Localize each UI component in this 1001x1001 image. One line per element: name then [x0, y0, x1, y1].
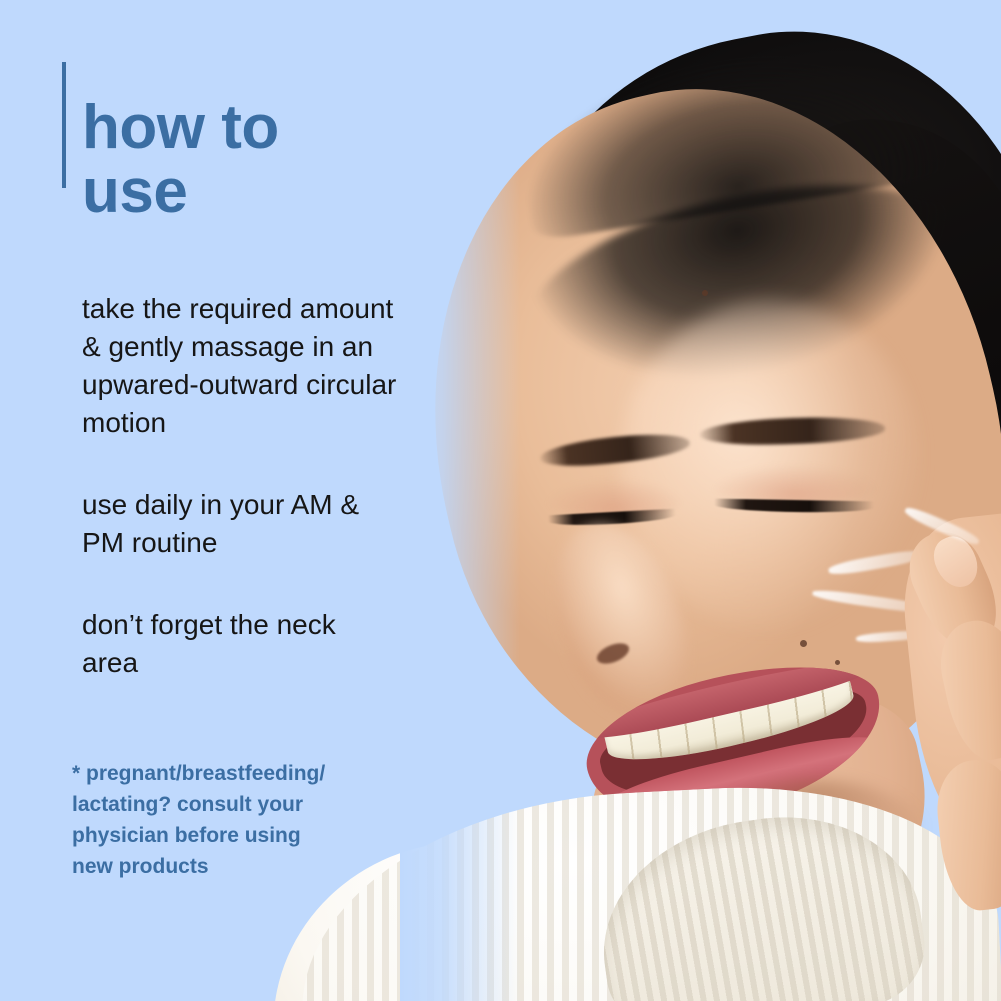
beauty-mark	[835, 660, 840, 665]
page-title: how to use	[82, 96, 422, 224]
beauty-mark	[800, 640, 807, 647]
cheek-highlight	[620, 300, 920, 630]
heading-accent-bar	[62, 62, 66, 188]
product-gel-smear	[812, 588, 932, 616]
eyebrow-right-icon	[700, 415, 886, 447]
nose-icon	[532, 506, 708, 733]
jawline	[578, 668, 953, 981]
fingernail-icon	[927, 530, 986, 594]
hair-wisps-icon	[511, 28, 949, 242]
instructions-column: how to use take the required amount & ge…	[0, 0, 470, 1001]
eyelid-left	[544, 478, 684, 518]
finger-icon	[897, 520, 1001, 657]
how-to-use-card: how to use take the required amount & ge…	[0, 0, 1001, 1001]
neck-shadow	[700, 780, 930, 910]
lower-lip	[598, 725, 890, 840]
product-gel-smear	[828, 548, 925, 577]
hair-side-icon	[672, 104, 1001, 696]
hair-icon	[464, 0, 1001, 563]
instruction-step-apply: take the required amount & gently massag…	[82, 290, 462, 442]
hairline-shadow	[505, 149, 994, 430]
nostril-icon	[594, 639, 632, 667]
turtleneck-collar	[588, 799, 933, 1001]
beauty-mark	[702, 290, 708, 296]
smiling-mouth-icon	[574, 643, 897, 842]
mouth-interior	[593, 670, 878, 817]
closed-eye-right-icon	[714, 499, 874, 514]
safety-footnote: * pregnant/breastfeeding/ lactating? con…	[72, 758, 402, 882]
upper-lip	[575, 651, 874, 748]
hand-icon	[895, 509, 1001, 853]
product-gel-smear	[856, 630, 926, 644]
teeth-icon	[602, 672, 858, 774]
eyebrow-left-icon	[539, 429, 691, 471]
instruction-step-frequency: use daily in your AM & PM routine	[82, 486, 462, 562]
finger-icon	[932, 756, 1001, 914]
teeth-separations	[602, 672, 858, 774]
closed-eye-left-icon	[548, 509, 676, 528]
instruction-step-neck: don’t forget the neck area	[82, 606, 462, 682]
eyelid-right	[710, 464, 880, 504]
product-gel-smear	[903, 504, 981, 548]
finger-icon	[932, 614, 1001, 767]
